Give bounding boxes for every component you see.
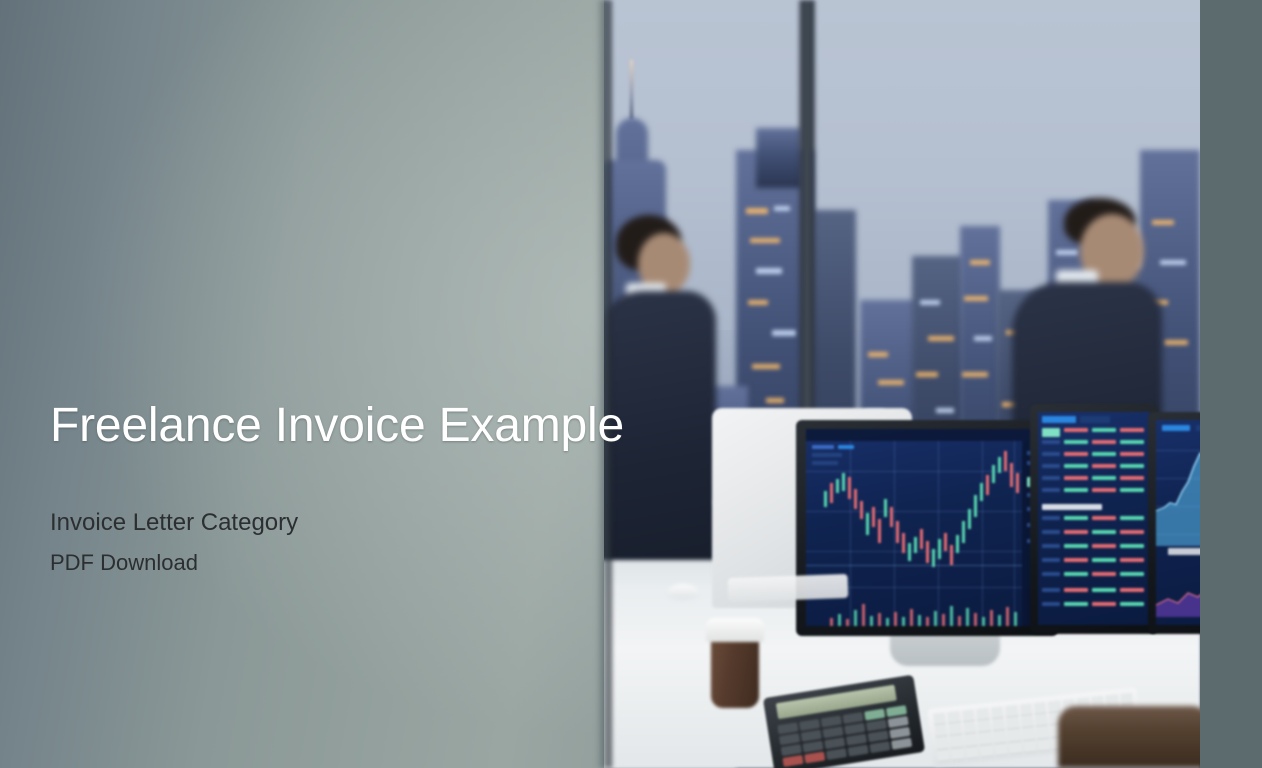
hero-photo [0, 0, 1200, 768]
office-chair [1058, 706, 1200, 768]
quote-table-monitor [1030, 404, 1158, 634]
page-title: Freelance Invoice Example [50, 398, 590, 455]
far-keyboard [728, 574, 849, 602]
slide-text-block: Freelance Invoice Example Invoice Letter… [50, 398, 590, 576]
area-chart-monitor [1148, 412, 1200, 634]
wall-edge-shadow [596, 0, 612, 768]
slide-canvas: Freelance Invoice Example Invoice Letter… [0, 0, 1262, 768]
right-color-band [1200, 0, 1262, 768]
download-label: PDF Download [50, 549, 590, 577]
foreground-wall [0, 0, 604, 768]
coffee-cup [706, 618, 764, 708]
trading-chart-monitor [796, 420, 1058, 636]
category-label: Invoice Letter Category [50, 508, 590, 538]
desk-mouse [666, 584, 700, 600]
